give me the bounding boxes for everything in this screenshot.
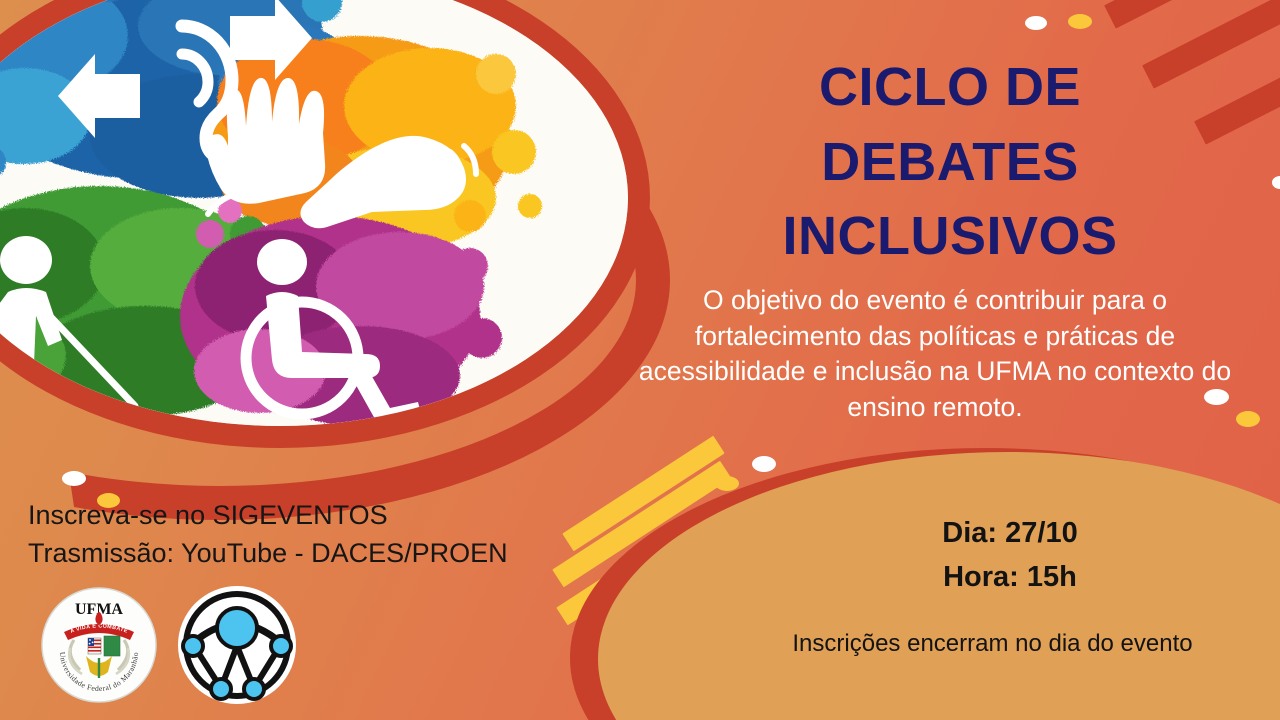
dot-top-white bbox=[1025, 16, 1047, 30]
event-time: Hora: 15h bbox=[760, 556, 1260, 600]
accessibility-artwork-oval bbox=[0, 0, 650, 448]
dot-mid-right-yellow bbox=[1236, 411, 1260, 427]
daces-logo bbox=[176, 584, 298, 711]
dot-top-yellow bbox=[1068, 14, 1092, 29]
signup-line-broadcast: Trasmissão: YouTube - DACES/PROEN bbox=[28, 534, 508, 572]
dot-right-edge-white bbox=[1272, 176, 1280, 189]
dot-center-yellow bbox=[715, 476, 739, 491]
title-line-2: DEBATES bbox=[650, 125, 1250, 200]
dot-left-white bbox=[62, 471, 86, 486]
poster-title: CICLO DE DEBATES INCLUSIVOS bbox=[650, 50, 1250, 274]
logo-row: Universidade Federal do Maranhão UFMA A … bbox=[40, 584, 298, 711]
ufma-logo: Universidade Federal do Maranhão UFMA A … bbox=[40, 586, 158, 709]
poster-canvas: CICLO DE DEBATES INCLUSIVOS O objetivo d… bbox=[0, 0, 1280, 720]
dot-center-white bbox=[752, 456, 776, 472]
poster-subtitle: O objetivo do evento é contribuir para o… bbox=[630, 283, 1240, 425]
signup-info: Inscreva-se no SIGEVENTOS Trasmissão: Yo… bbox=[28, 496, 508, 573]
dot-mid-right-white bbox=[1204, 389, 1229, 405]
accessibility-artwork bbox=[0, 0, 628, 426]
dot-left-yellow bbox=[97, 493, 120, 508]
title-line-1: CICLO DE bbox=[650, 50, 1250, 125]
event-date: Dia: 27/10 bbox=[760, 512, 1260, 556]
title-line-3: INCLUSIVOS bbox=[650, 199, 1250, 274]
event-registration-note: Inscrições encerram no dia do evento bbox=[720, 628, 1265, 659]
event-datetime: Dia: 27/10 Hora: 15h bbox=[760, 512, 1260, 599]
